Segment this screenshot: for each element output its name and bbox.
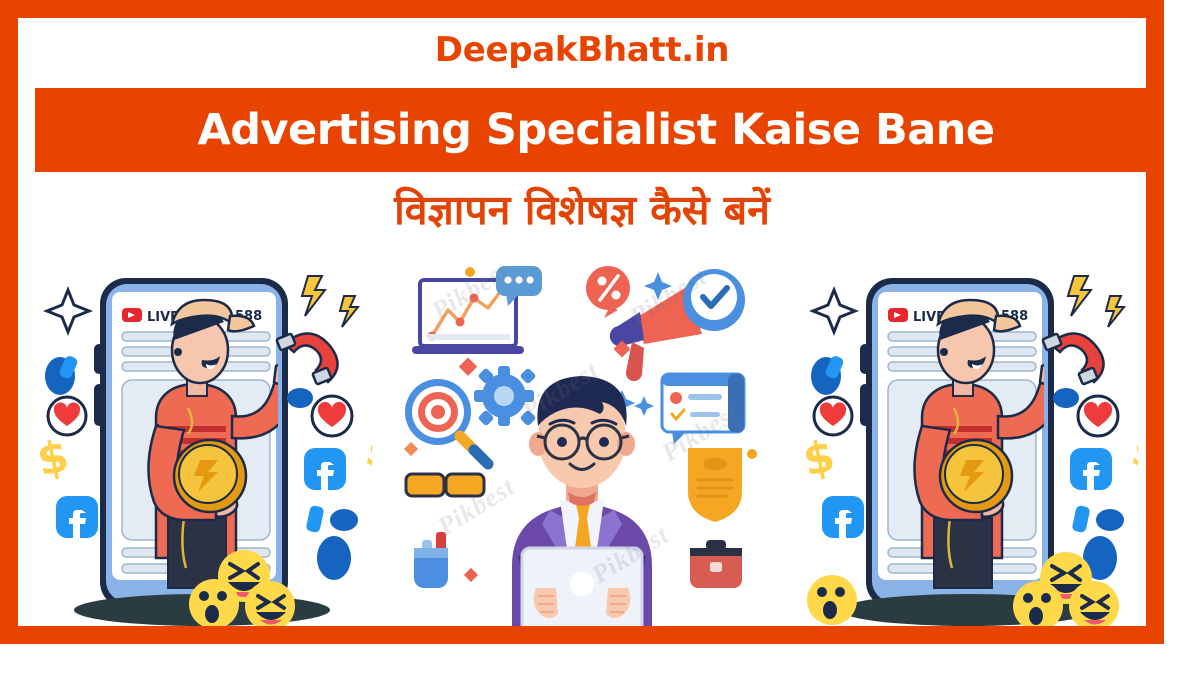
- sparkle-icon: [813, 290, 855, 332]
- pen-cup-icon: [414, 532, 448, 588]
- illustration-center-specialist: Pikbest Pikbest Pikbest Pikbest Pikbest …: [400, 248, 762, 626]
- check-circle-icon: [683, 269, 745, 331]
- facebook-icon: [304, 448, 346, 490]
- site-brand: DeepakBhatt.in: [18, 30, 1146, 70]
- illustration-right-live-phone: $ $: [798, 248, 1138, 626]
- card-window-icon: [662, 374, 744, 444]
- blue-tag-icon: [305, 505, 324, 533]
- title-banner: Advertising Specialist Kaise Bane: [35, 88, 1146, 172]
- shield-icon: [688, 448, 742, 522]
- coin-icon: [940, 440, 1012, 512]
- coin-icon: [174, 440, 246, 512]
- heart-circle-icon: [48, 397, 86, 435]
- sunglasses-icon: [406, 474, 484, 496]
- illustration-left-live-phone: $ $: [32, 248, 372, 626]
- svg-text:$: $: [799, 431, 840, 487]
- facebook-icon: [56, 496, 98, 538]
- heart-circle-icon: [814, 397, 852, 435]
- blue-blob-icon: [330, 509, 358, 531]
- page-title: Advertising Specialist Kaise Bane: [197, 105, 994, 155]
- heart-circle-icon: [312, 396, 352, 436]
- svg-text:$: $: [33, 431, 74, 487]
- frame-border-right: [1146, 0, 1164, 644]
- dot-accent: [747, 449, 757, 459]
- page-subtitle-hindi: विज्ञापन विशेषज्ञ कैसे बनें: [18, 181, 1146, 237]
- frame-border-top: [0, 0, 1164, 18]
- phone-button: [860, 384, 870, 426]
- phone-button: [94, 344, 104, 374]
- illustration-strip: $ $: [18, 248, 1146, 626]
- lightning-icon: [1068, 276, 1124, 327]
- blue-blob-icon: [1096, 509, 1124, 531]
- facebook-icon: [1070, 448, 1112, 490]
- svg-text:$: $: [1127, 429, 1138, 480]
- frame-border-left: [0, 0, 18, 644]
- lightning-icon: [302, 276, 358, 327]
- frame-border-bottom: [0, 626, 1164, 644]
- blue-blob-icon: [1053, 388, 1079, 408]
- briefcase-icon: [690, 540, 742, 588]
- facebook-icon: [822, 496, 864, 538]
- heart-circle-icon: [1078, 396, 1118, 436]
- thumbnail-canvas: DeepakBhatt.in Advertising Specialist Ka…: [0, 0, 1200, 675]
- blue-blob-icon: [317, 536, 351, 580]
- blue-blob-icon: [287, 388, 313, 408]
- emoji-surprised-icon: [807, 575, 857, 625]
- magnifier-icon: [460, 436, 488, 464]
- sparkle-icon: [47, 290, 89, 332]
- page-content: DeepakBhatt.in Advertising Specialist Ka…: [18, 18, 1146, 626]
- gear-icon: [474, 366, 536, 426]
- phone-button: [94, 384, 104, 426]
- phone-button: [860, 344, 870, 374]
- dot-accent: [465, 267, 475, 277]
- percent-tag-icon: [586, 266, 630, 318]
- svg-text:$: $: [361, 429, 372, 480]
- blue-tag-icon: [1071, 505, 1090, 533]
- specialist-character: [512, 376, 652, 626]
